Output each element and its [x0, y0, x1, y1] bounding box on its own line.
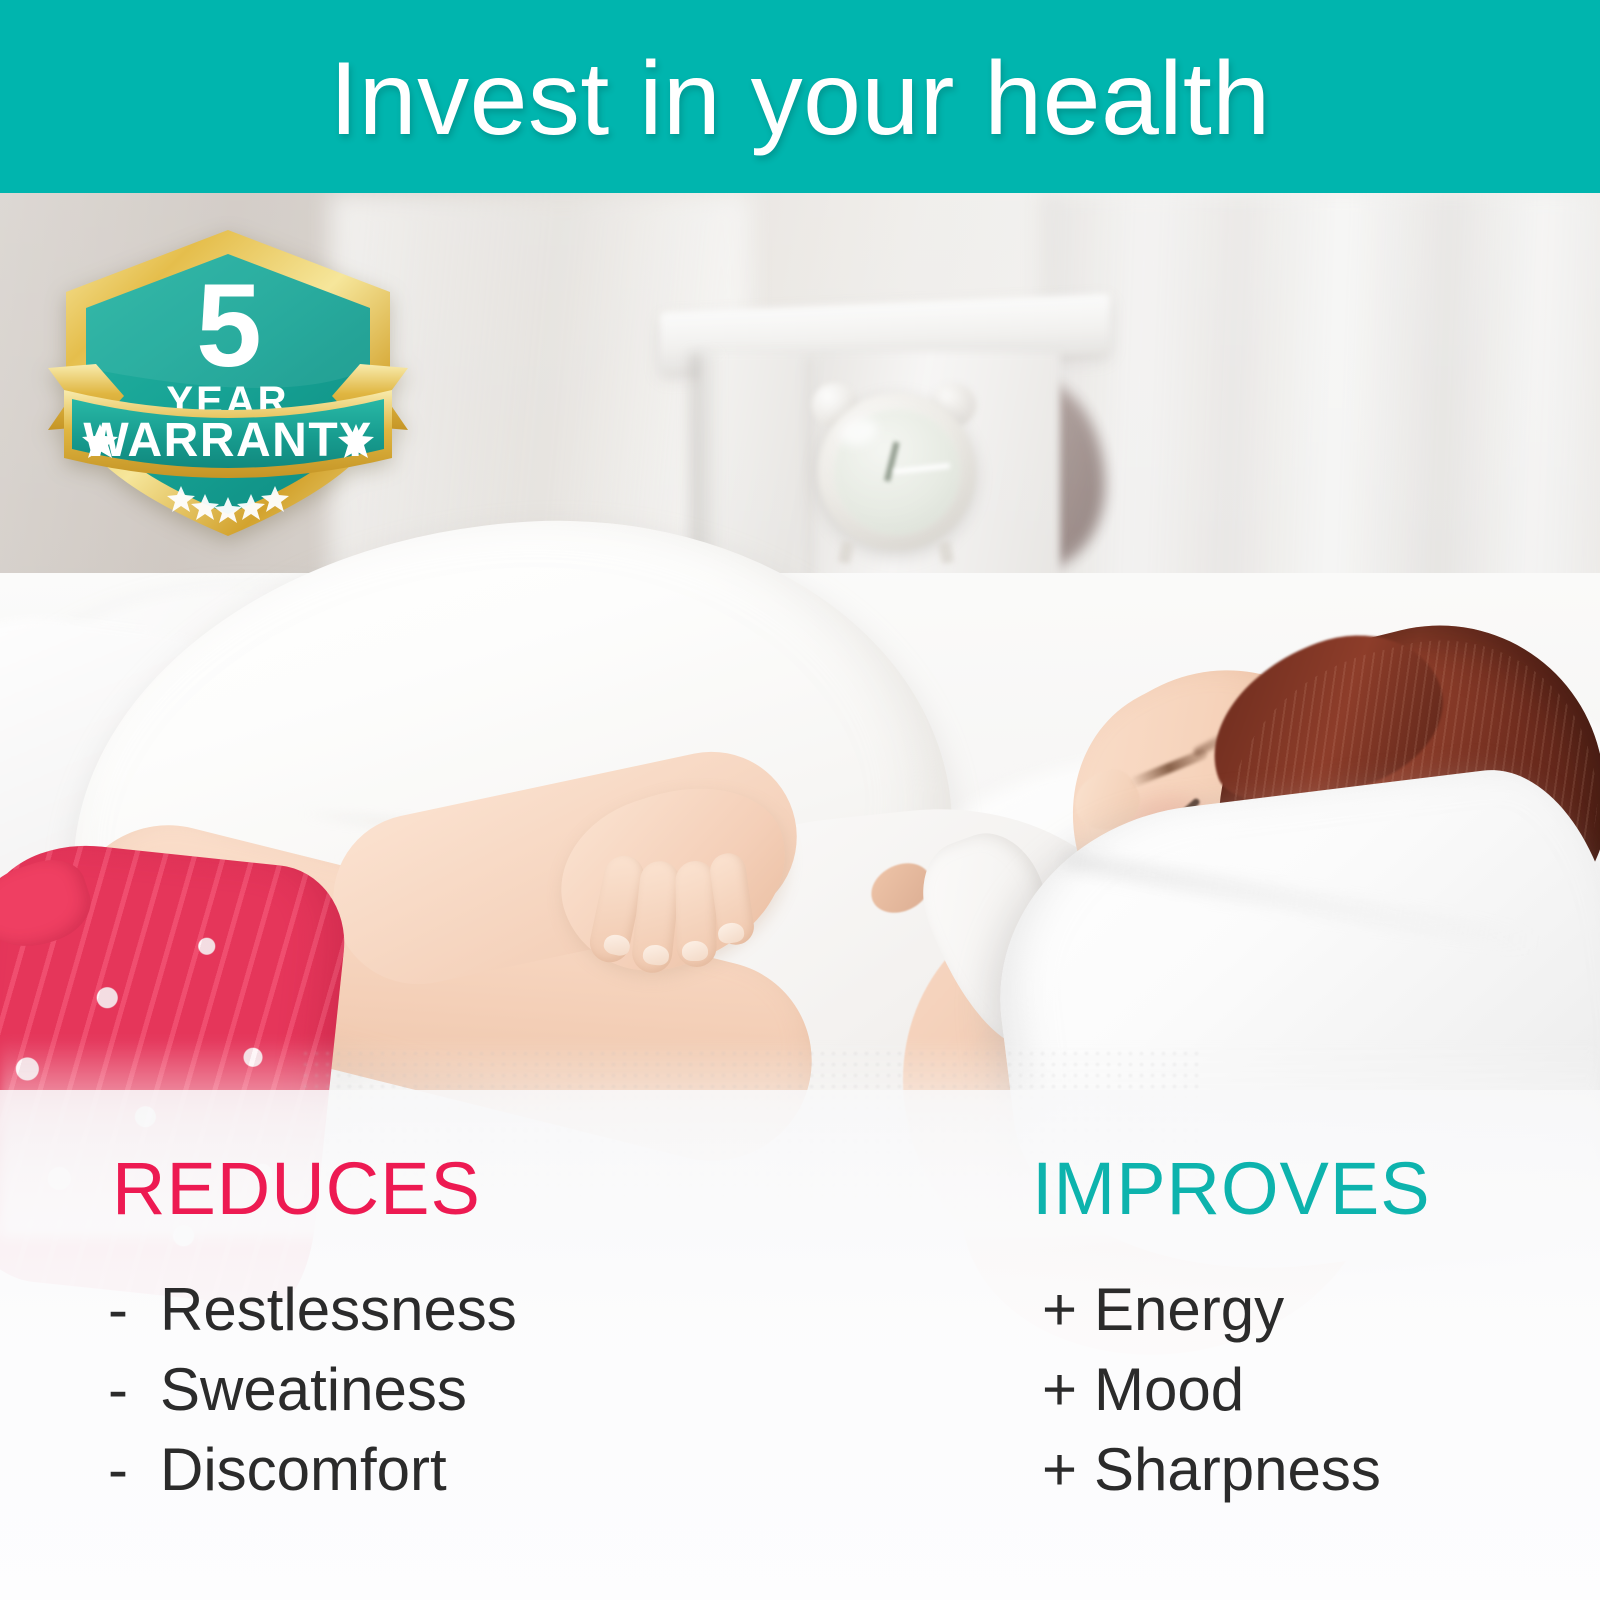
list-item-label: Mood — [1094, 1350, 1244, 1430]
minus-icon: - — [108, 1430, 160, 1510]
benefits-section: REDUCES - Restlessness - Sweatiness - Di… — [0, 1090, 1600, 1600]
improves-column: IMPROVES + Energy + Mood + Sharpness — [1032, 1090, 1431, 1509]
list-item-label: Restlessness — [160, 1270, 517, 1350]
list-item: - Discomfort — [108, 1430, 517, 1510]
reduces-heading: REDUCES — [112, 1152, 517, 1226]
warranty-badge: 5 YEAR WARRANTY — [38, 218, 418, 548]
list-item: - Sweatiness — [108, 1350, 517, 1430]
plus-icon: + — [1042, 1270, 1094, 1350]
list-item-label: Energy — [1094, 1270, 1284, 1350]
list-item-label: Sweatiness — [160, 1350, 467, 1430]
improves-heading: IMPROVES — [1032, 1152, 1431, 1226]
product-marketing-image: Invest in your health — [0, 0, 1600, 1600]
ribbon-label: WARRANTY — [83, 414, 372, 467]
plus-icon: + — [1042, 1430, 1094, 1510]
list-item: + Energy — [1042, 1270, 1431, 1350]
list-item-label: Sharpness — [1094, 1430, 1381, 1510]
minus-icon: - — [108, 1350, 160, 1430]
plus-icon: + — [1042, 1350, 1094, 1430]
fingernail-ring — [682, 941, 708, 961]
list-item: + Mood — [1042, 1350, 1431, 1430]
minus-icon: - — [108, 1270, 160, 1350]
badge-number: 5 — [196, 260, 260, 392]
reduces-list: - Restlessness - Sweatiness - Discomfort — [108, 1270, 517, 1509]
list-item: - Restlessness — [108, 1270, 517, 1350]
improves-list: + Energy + Mood + Sharpness — [1032, 1270, 1431, 1509]
page-title: Invest in your health — [329, 47, 1270, 151]
list-item: + Sharpness — [1042, 1430, 1431, 1510]
header-banner: Invest in your health — [0, 0, 1600, 193]
list-item-label: Discomfort — [160, 1430, 447, 1510]
reduces-column: REDUCES - Restlessness - Sweatiness - Di… — [108, 1090, 517, 1509]
